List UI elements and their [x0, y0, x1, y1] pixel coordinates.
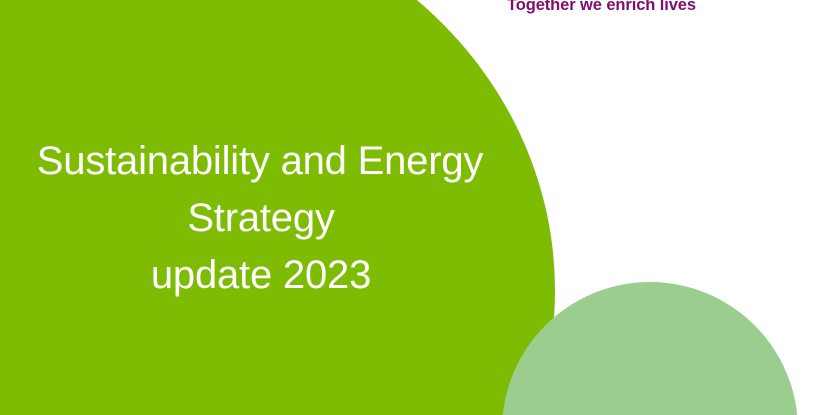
brand-tagline: Together we enrich lives	[507, 0, 696, 15]
slide-title-line-2: Strategy	[22, 190, 500, 247]
slide-title: Sustainability and Energy Strategy updat…	[22, 133, 500, 304]
slide-title-line-3: update 2023	[22, 247, 500, 304]
title-slide: Together we enrich lives Sustainability …	[0, 0, 830, 415]
slide-title-line-1: Sustainability and Energy	[20, 133, 500, 190]
